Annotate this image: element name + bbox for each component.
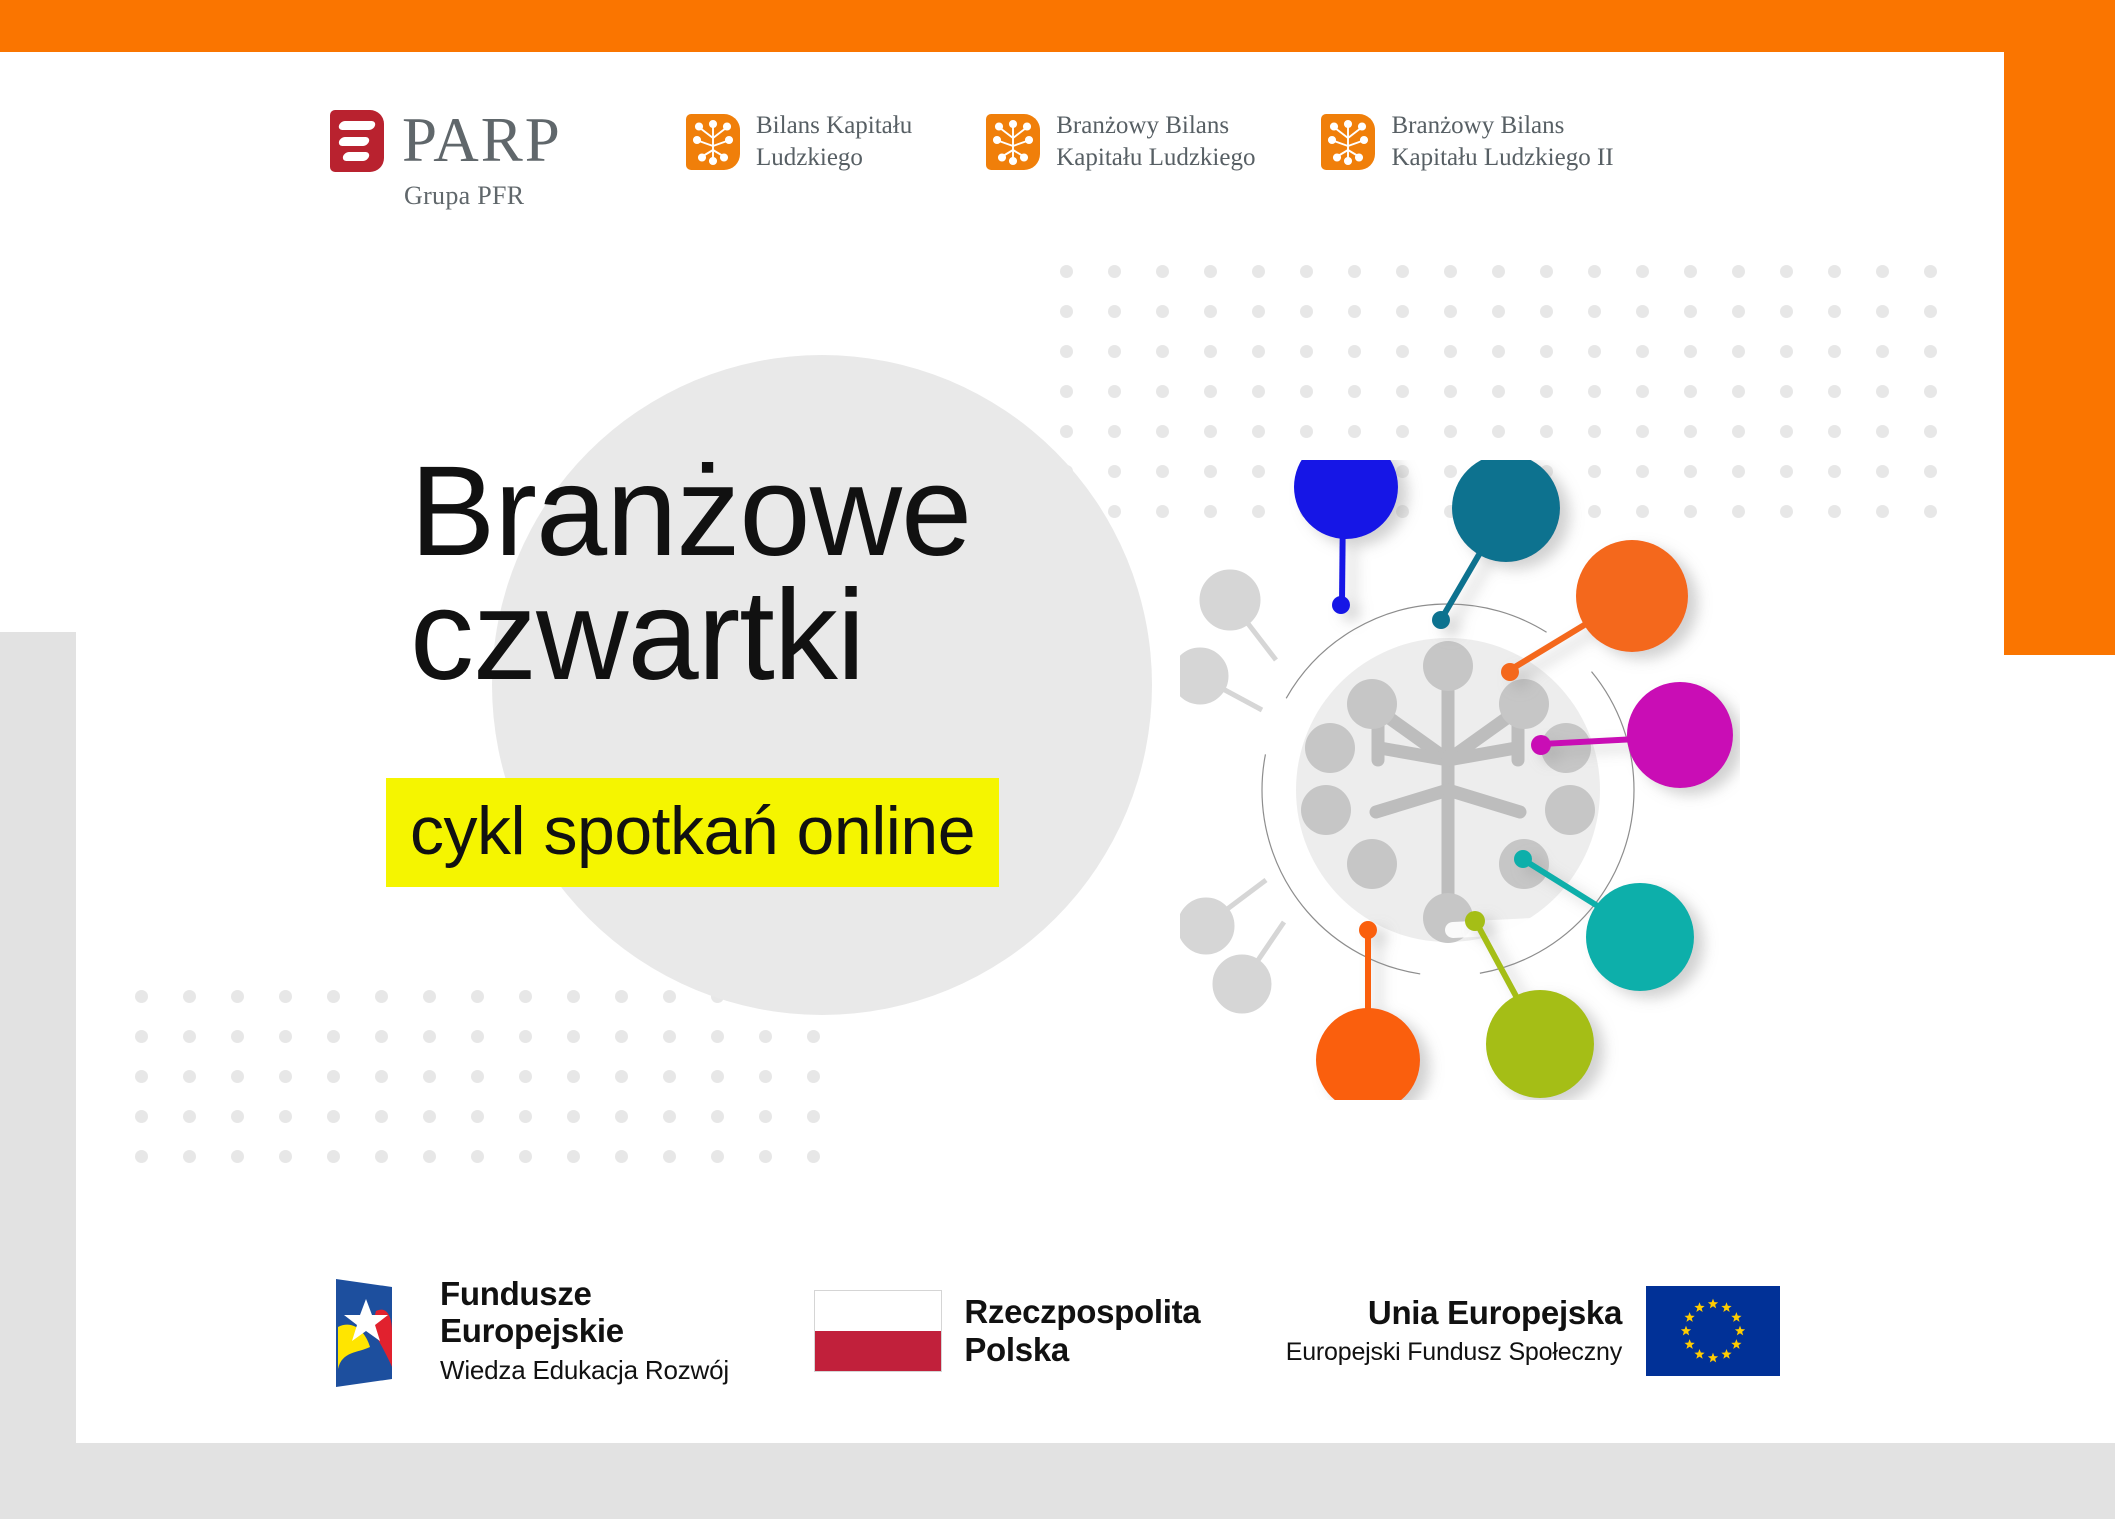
bkl-network-icon [986,114,1040,170]
bkl-logo-2-line1: Branżowy Bilans [1056,110,1255,142]
fundusze-europejskie-text: Fundusze Europejskie Wiedza Edukacja Roz… [440,1276,729,1386]
bkl-logo-2-label: Branżowy Bilans Kapitału Ludzkiego [1056,110,1255,174]
parp-logo[interactable]: PARP Grupa PFR [330,110,620,211]
title-line-1: Branżowe [410,450,971,574]
title-line-2: czwartki [410,574,971,698]
fundusze-europejskie-logo-icon [330,1275,422,1387]
eu-flag-icon [1646,1286,1780,1376]
dot-grid-left [135,990,855,1190]
bkl-logo-1[interactable]: Bilans Kapitału Ludzkiego [686,110,912,174]
bkl-logo-3[interactable]: Branżowy Bilans Kapitału Ludzkiego II [1321,110,1613,174]
right-orange-band [2004,0,2115,655]
bkl-logo-2[interactable]: Branżowy Bilans Kapitału Ludzkiego [986,110,1255,174]
partner-logo-row: PARP Grupa PFR [330,110,1614,211]
parp-waves-icon [330,110,384,172]
bkl-logo-1-line1: Bilans Kapitału [756,110,912,142]
bottom-gray-band [0,1443,2115,1519]
bkl-logo-1-label: Bilans Kapitału Ludzkiego [756,110,912,174]
bkl-logo-1-line2: Ludzkiego [756,142,912,174]
bkl-logo-2-line2: Kapitału Ludzkiego [1056,142,1255,174]
bkl-logo-3-line1: Branżowy Bilans [1391,110,1613,142]
top-orange-band [0,0,2115,52]
unia-line1: Unia Europejska [1286,1295,1622,1331]
parp-tagline: Grupa PFR [404,181,620,211]
polska-line2: Polska [964,1331,1200,1369]
subtitle-highlight: cykl spotkań online [386,778,999,887]
funding-logo-bar: Fundusze Europejskie Wiedza Edukacja Roz… [330,1275,1780,1387]
bkl-logo-3-label: Branżowy Bilans Kapitału Ludzkiego II [1391,110,1613,174]
fundusze-europejskie-logo[interactable]: Fundusze Europejskie Wiedza Edukacja Roz… [330,1275,729,1387]
left-gray-band [0,632,76,1519]
bkl-logo-3-line2: Kapitału Ludzkiego II [1391,142,1613,174]
page-title: Branżowe czwartki [410,450,971,698]
bkl-network-icon [1321,114,1375,170]
unia-text: Unia Europejska Europejski Fundusz Społe… [1286,1295,1622,1366]
poster-canvas: PARP Grupa PFR [0,0,2115,1519]
parp-wordmark: PARP [402,111,562,171]
polska-text: Rzeczpospolita Polska [964,1293,1200,1368]
fundusze-line3: Wiedza Edukacja Rozwój [440,1355,729,1386]
unia-europejska-logo[interactable]: Unia Europejska Europejski Fundusz Społe… [1286,1286,1780,1376]
polish-flag-icon [814,1290,942,1372]
polska-line1: Rzeczpospolita [964,1293,1200,1331]
fundusze-line1: Fundusze [440,1276,729,1313]
bkl-network-icon [686,114,740,170]
network-nodes-graphic [1180,460,1740,1100]
fundusze-line2: Europejskie [440,1313,729,1350]
subtitle-wrapper: cykl spotkań online [386,778,999,887]
unia-line2: Europejski Fundusz Społeczny [1286,1337,1622,1367]
rzeczpospolita-polska-logo[interactable]: Rzeczpospolita Polska [814,1290,1200,1372]
